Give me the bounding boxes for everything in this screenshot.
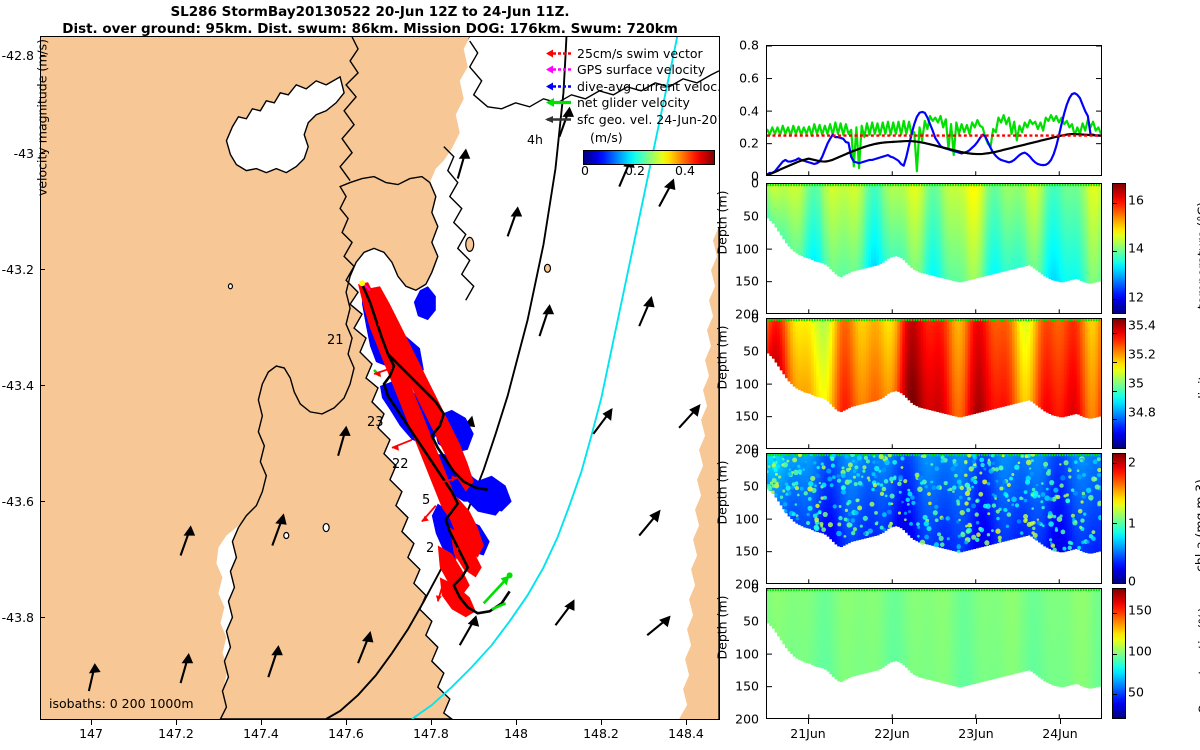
lon-tick-label-5: 148 [504,726,528,741]
oxygen-yaxis: 0 50 100 150 200 [700,588,762,719]
ox-cbar-label-150: 150 [1128,603,1152,618]
oxygen-cbar-ticks: 150 100 50 [1128,588,1168,719]
lat-tick-label-4: -43.6 [2,494,34,509]
isobaths-label: isobaths: 0 200 1000m [49,696,194,711]
salinity-yaxis: 0 50 100 150 200 [700,318,762,449]
legend-label-swim-vector: 25cm/s swim vector [577,46,703,61]
chl-cbar-label-1: 1 [1128,516,1136,531]
vel-ytick-2: 0.4 [739,103,759,118]
chlorophyll-colorbar [1112,453,1126,584]
chl-ytick-3: 150 [735,544,759,559]
map-frame: 21 23 22 5 2 isobaths: 0 200 1000m 25cm/… [40,36,720,720]
page-title: SL286 StormBay20130522 20-Jun 12Z to 24-… [0,4,740,38]
xtick-23jun: 23Jun [958,726,993,741]
lat-tick-label-1: -43 [14,146,34,161]
ox-cbar-label-100: 100 [1128,644,1152,659]
vel-ytick-1: 0.2 [739,136,759,151]
gps-surface-velocity-icon [538,64,572,75]
temp-cbar-label-12: 12 [1128,290,1144,305]
track-end-marker [507,572,513,578]
legend-label-sfc-geo-velocity: sfc geo. vel. 24-Jun-2013 [577,112,720,127]
ox-ytick-1: 50 [743,613,759,628]
xtick-24jun: 24Jun [1042,726,1077,741]
chlorophyll-yaxis: 0 50 100 150 200 [700,453,762,584]
chl-cbar-label-2: 2 [1128,455,1136,470]
swim-vector-icon [538,48,572,59]
map-cbar-tick-1: 0.2 [625,163,645,178]
sal-ytick-0: 0 [751,311,759,326]
legend-label-gps-surface-velocity: GPS surface velocity [577,62,705,77]
temp-ytick-2: 100 [735,241,759,256]
temperature-cbar-title: temperature (°C) [1195,196,1200,316]
chlorophyll-section-panel[interactable] [766,453,1102,584]
sal-cbar-label-348: 34.8 [1128,405,1156,420]
sal-cbar-label-350: 35 [1128,376,1144,391]
lat-tick-label-5: -43.8 [2,610,34,625]
chlorophyll-cbar-ticks: 2 1 0 [1128,453,1158,584]
map-lon-axis: 147 147.2 147.4 147.6 147.8 148 148.2 14… [40,720,720,750]
sal-ytick-1: 50 [743,343,759,358]
temp-ytick-1: 50 [743,208,759,223]
legend-item-net-glider-velocity: net glider velocity [538,95,720,112]
lon-tick-label-4: 147.8 [413,726,449,741]
chl-cbar-label-0: 0 [1128,574,1136,589]
oxygen-section-panel[interactable] [766,588,1102,719]
lon-tick-label-6: 148.2 [583,726,619,741]
temp-ytick-3: 150 [735,274,759,289]
temperature-colorbar [1112,183,1126,314]
track-label-2: 2 [426,541,434,556]
temp-cbar-label-14: 14 [1128,241,1144,256]
legend-item-swim-vector: 25cm/s swim vector [538,45,720,62]
lon-tick-label-3: 147.6 [328,726,364,741]
legend-item-sfc-geo-velocity: sfc geo. vel. 24-Jun-2013 [538,111,720,128]
salinity-section-panel[interactable] [766,318,1102,449]
salinity-cbar-title: salinity [1196,336,1200,446]
oxygen-cbar-title: Ox. sat. ratio (%) [1196,596,1200,726]
oxygen-section-graphics [767,589,1101,719]
oxygen-colorbar [1112,588,1126,719]
lon-tick-label-2: 147.4 [243,726,279,741]
sal-ytick-2: 100 [735,376,759,391]
temp-ytick-0: 0 [751,176,759,191]
map-cbar-tick-2: 0.4 [675,163,695,178]
legend-label-dive-avg-current: dive-avg current veloc. [577,79,720,94]
section-xaxis: 21Jun 22Jun 23Jun 24Jun [766,719,1102,745]
ox-ytick-0: 0 [751,581,759,596]
ox-ytick-2: 100 [735,646,759,661]
chlorophyll-section-graphics [767,454,1101,584]
salinity-section-graphics [767,319,1101,449]
track-start-marker [359,280,365,286]
lon-tick-label-7: 148.4 [668,726,704,741]
ox-ytick-4: 200 [735,712,759,727]
title-line-1: SL286 StormBay20130522 20-Jun 12Z to 24-… [0,4,740,21]
lat-tick-label-0: -42.8 [2,48,34,63]
track-label-5: 5 [422,493,430,508]
xtick-21jun: 21Jun [790,726,825,741]
lat-tick-label-3: -43.4 [2,378,34,393]
map-colorbar [583,150,715,165]
ox-ytick-3: 150 [735,679,759,694]
legend-item-dive-avg-current: dive-avg current veloc. [538,78,720,95]
ox-cbar-label-50: 50 [1128,685,1144,700]
velocity-ylabel: velocity magnitude (m/s) [35,38,50,198]
temperature-yaxis: 0 50 100 150 200 [700,183,762,314]
legend-item-gps-surface-velocity: GPS surface velocity [538,62,720,79]
sal-cbar-label-352: 35.2 [1128,347,1156,362]
chl-ytick-0: 0 [751,446,759,461]
legend-interval-label: 4h [527,132,543,147]
dive-avg-current-icon [538,81,572,92]
legend-label-net-glider-velocity: net glider velocity [577,95,690,110]
track-label-21: 21 [327,333,344,348]
temperature-section-graphics [767,184,1101,314]
velocity-timeseries-panel[interactable] [766,45,1102,176]
legend-units-label: (m/s) [590,130,623,145]
map-lat-axis: -42.8 -43 -43.2 -43.4 -43.6 -43.8 [0,36,38,720]
velocity-yaxis: 0.8 0.6 0.4 0.2 0 [700,45,762,176]
glider-track-map[interactable]: 21 23 22 5 2 isobaths: 0 200 1000m 25cm/… [40,36,720,720]
vel-ytick-3: 0.6 [739,70,759,85]
chl-ytick-1: 50 [743,478,759,493]
vel-ytick-4: 0.8 [739,38,759,53]
track-label-22: 22 [392,457,409,472]
salinity-colorbar [1112,318,1126,449]
chl-ytick-2: 100 [735,511,759,526]
track-label-23: 23 [367,415,384,430]
sfc-geo-velocity-icon [538,114,572,125]
map-legend: 25cm/s swim vector GPS surface velocity … [538,45,720,174]
temp-cbar-label-16: 16 [1128,193,1144,208]
salinity-cbar-ticks: 35.4 35.2 35 34.8 [1128,318,1174,449]
temperature-cbar-ticks: 16 14 12 [1128,183,1168,314]
lat-tick-label-2: -43.2 [2,262,34,277]
map-cbar-tick-0: 0 [581,163,589,178]
velocity-traces [767,46,1101,176]
map-colorbar-group: 4h (m/s) 0 0.2 0.4 [538,130,720,174]
temperature-section-panel[interactable] [766,183,1102,314]
lon-tick-label-0: 147 [79,726,103,741]
chlorophyll-cbar-title: chl-a (mg m-3) [1193,466,1200,586]
sal-cbar-label-354: 35.4 [1128,318,1156,333]
xtick-22jun: 22Jun [874,726,909,741]
net-glider-velocity-icon [538,97,572,108]
lon-tick-label-1: 147.2 [158,726,194,741]
sal-ytick-3: 150 [735,409,759,424]
